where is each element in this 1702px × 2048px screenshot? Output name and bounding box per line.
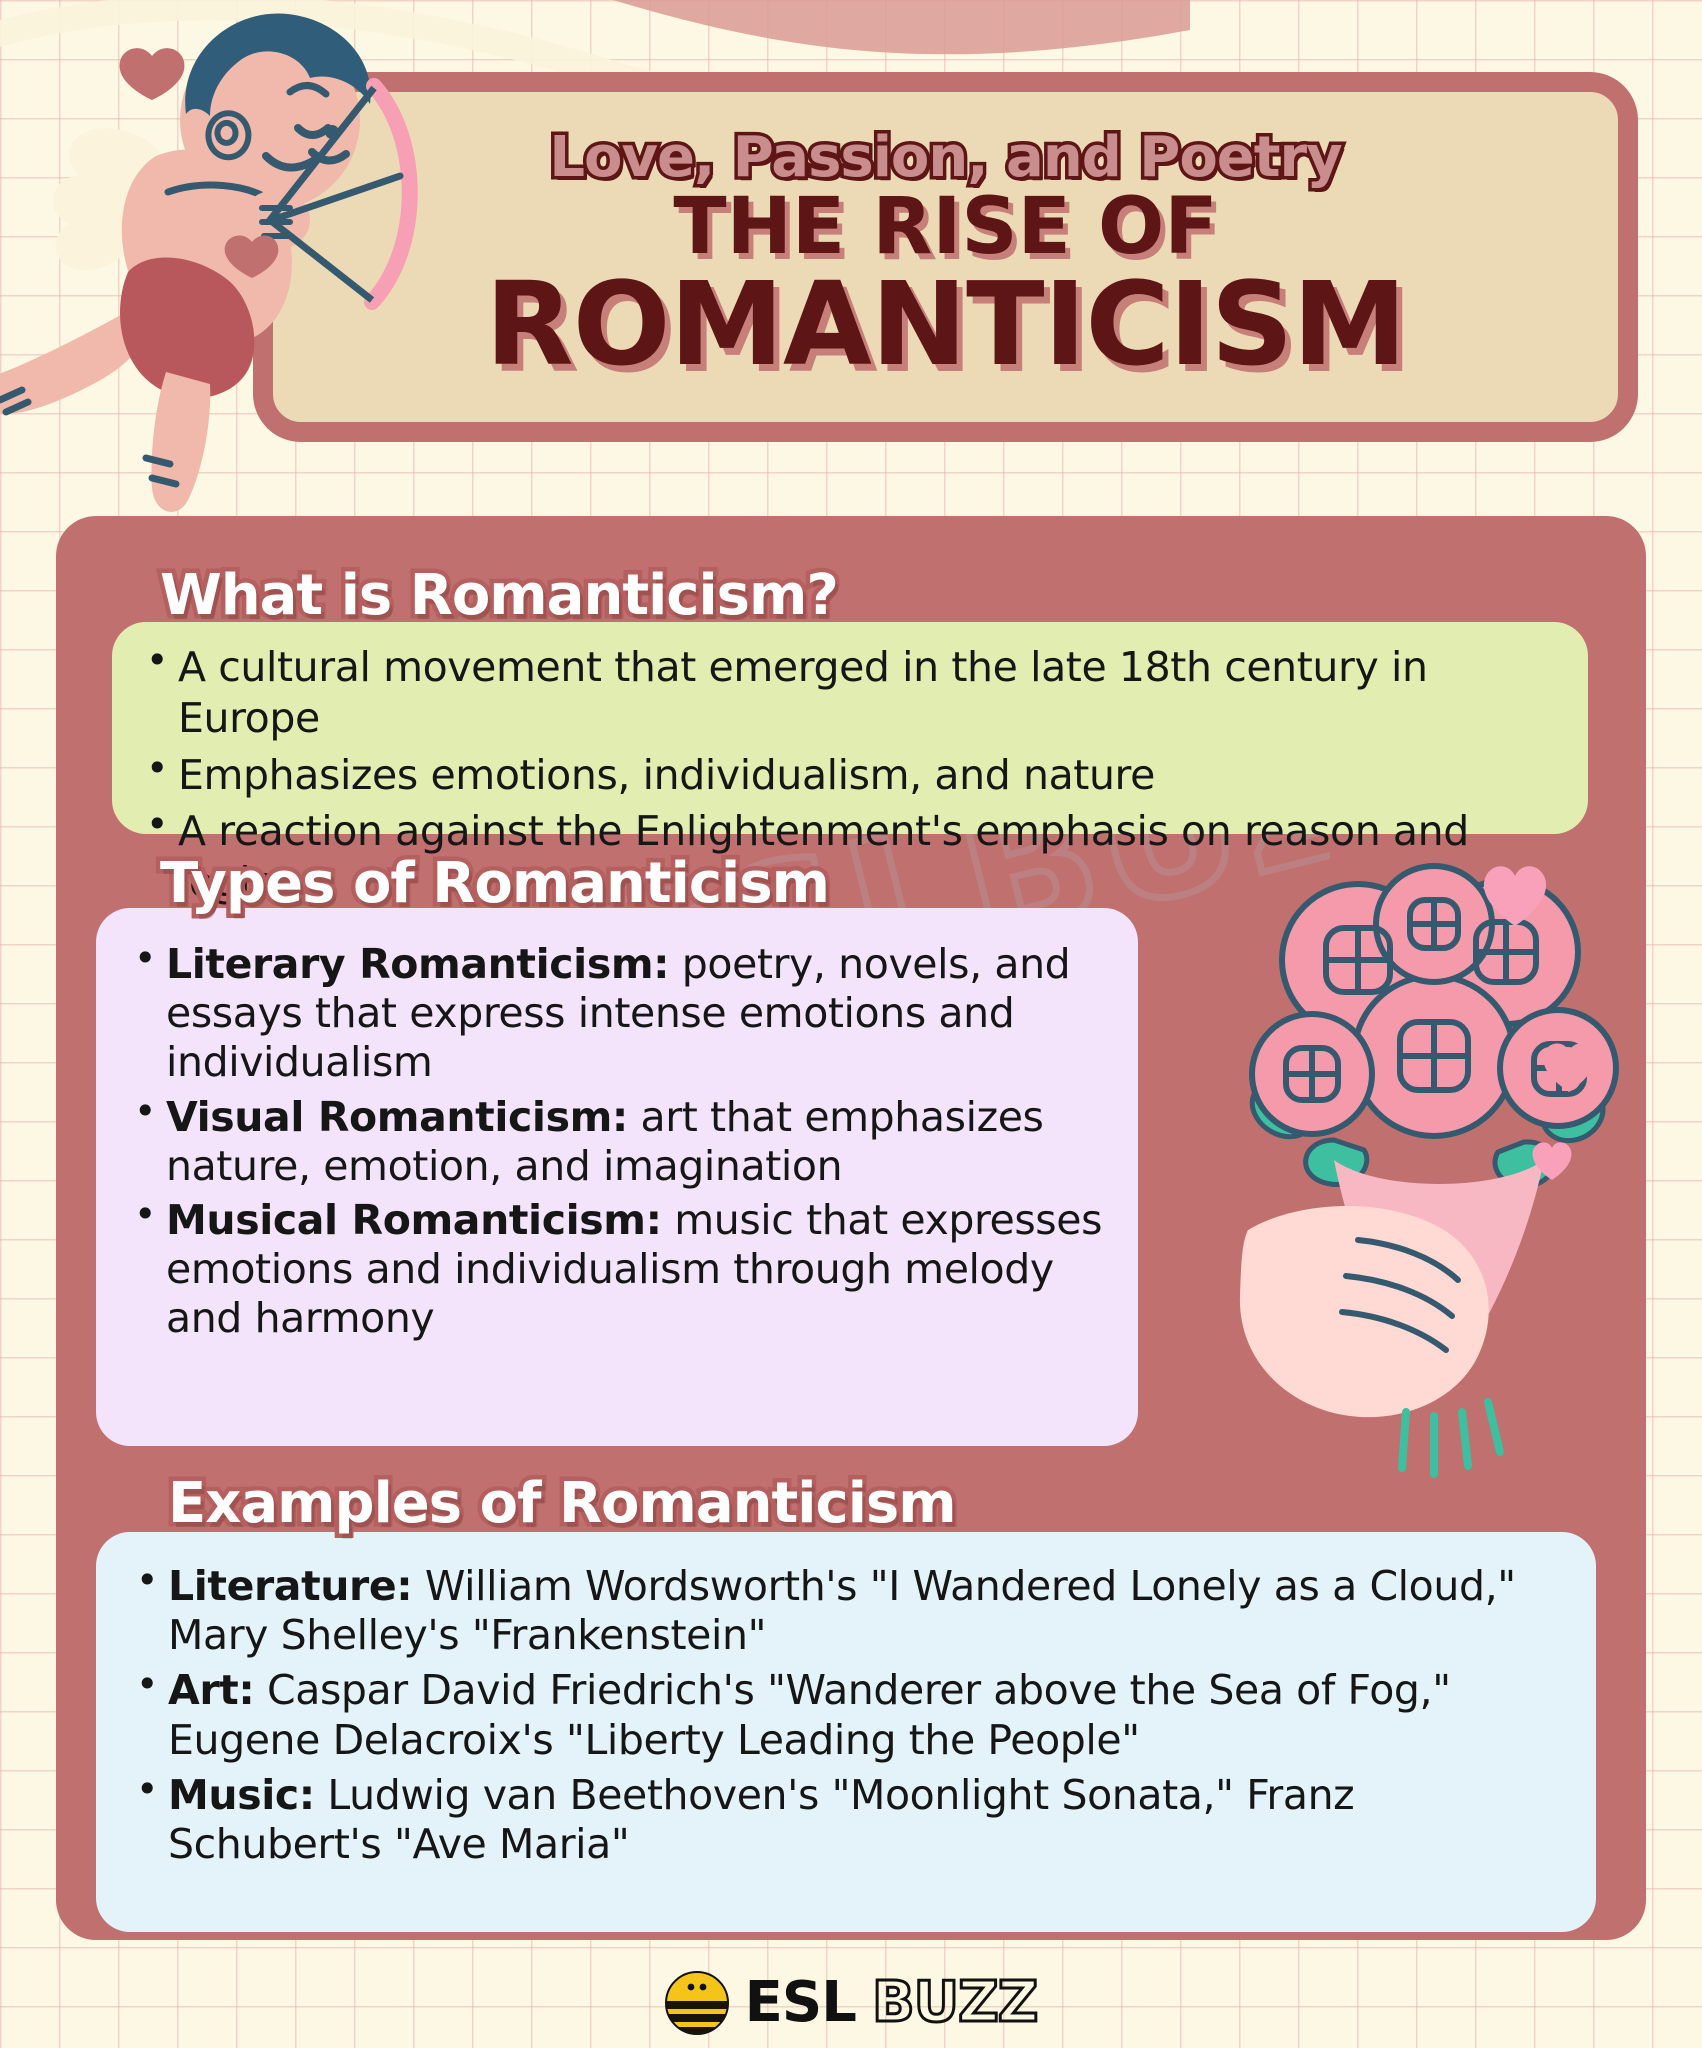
title-line-2: ROMANTICISM	[485, 267, 1406, 384]
section-heading-what-is-romanticism: What is Romanticism?	[160, 568, 838, 624]
list-item-lead: Literature:	[168, 1562, 412, 1610]
list-item-rest: Ludwig van Beethoven's "Moonlight Sonata…	[168, 1771, 1354, 1868]
infographic-page: Love, Passion, and Poetry THE RISE OF RO…	[0, 0, 1702, 2048]
logo-text-esl: ESL	[745, 1975, 856, 2031]
section-heading-examples-of-romanticism: Examples of Romanticism	[168, 1476, 956, 1532]
title-kicker: Love, Passion, and Poetry	[549, 130, 1341, 186]
list-item: Music: Ludwig van Beethoven's "Moonlight…	[128, 1771, 1564, 1869]
list-item: Visual Romanticism: art that emphasizes …	[126, 1093, 1108, 1191]
title-line-1: THE RISE OF	[673, 188, 1217, 268]
list-item: Emphasizes emotions, individualism, and …	[138, 750, 1562, 801]
types-of-romanticism-box: Literary Romanticism: poetry, novels, an…	[96, 908, 1138, 1446]
list-item: Musical Romanticism: music that expresse…	[126, 1196, 1108, 1344]
list-item-rest: Caspar David Friedrich's "Wanderer above…	[168, 1666, 1451, 1763]
list-item-lead: Art:	[168, 1666, 254, 1714]
list-item: Literature: William Wordsworth's "I Wand…	[128, 1562, 1564, 1660]
list-item-lead: Visual Romanticism:	[166, 1093, 628, 1141]
list-item: Art: Caspar David Friedrich's "Wanderer …	[128, 1666, 1564, 1764]
bee-icon	[665, 1971, 729, 2035]
section-heading-types-of-romanticism: Types of Romanticism	[160, 856, 829, 912]
types-of-romanticism-list: Literary Romanticism: poetry, novels, an…	[126, 940, 1108, 1344]
list-item-lead: Literary Romanticism:	[166, 940, 669, 988]
list-item-lead: Musical Romanticism:	[166, 1196, 662, 1244]
header-banner: Love, Passion, and Poetry THE RISE OF RO…	[253, 72, 1638, 442]
list-item: Literary Romanticism: poetry, novels, an…	[126, 940, 1108, 1088]
list-item-lead: Music:	[168, 1771, 315, 1819]
list-item: A cultural movement that emerged in the …	[138, 642, 1562, 744]
logo-text-buzz: BUZZ	[872, 1975, 1037, 2031]
what-is-romanticism-box: A cultural movement that emerged in the …	[112, 622, 1588, 834]
footer-logo: ESL BUZZ	[0, 1958, 1702, 2048]
examples-of-romanticism-list: Literature: William Wordsworth's "I Wand…	[128, 1562, 1564, 1869]
examples-of-romanticism-box: Literature: William Wordsworth's "I Wand…	[96, 1532, 1596, 1932]
